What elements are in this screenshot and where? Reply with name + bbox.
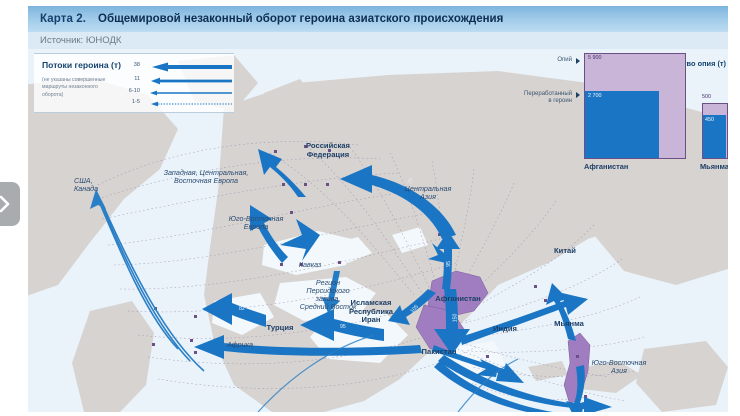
legend-value-38: 38 (118, 62, 140, 68)
legend-title: Потоки героина (т) (42, 60, 121, 70)
myanmar-heroin-value: 450 (705, 117, 714, 123)
afghanistan-bar-label: Афганистан (584, 162, 628, 171)
opium-row-label: Опий (524, 57, 572, 64)
legend-value-1-5: 1-5 (118, 99, 140, 105)
afghanistan-heroin-bar (585, 91, 659, 158)
legend-row-38: 38 (118, 62, 228, 72)
world-map: США,Канада Западная, Центральная,Восточн… (28, 49, 728, 412)
map-title: Общемировой незаконный оборот героина аз… (98, 13, 503, 25)
legend-value-6-10: 6-10 (118, 88, 140, 94)
heroin-row-label: Переработанныйв героин (494, 91, 572, 105)
map-number: Карта 2. (40, 13, 86, 25)
afghanistan-heroin-value: 2 700 (588, 93, 602, 99)
myanmar-opium-value: 500 (702, 94, 711, 100)
legend-row-11: 11 (118, 76, 228, 86)
myanmar-bars: 500 450 (702, 103, 728, 159)
opium-row-caret (576, 58, 580, 64)
afghanistan-opium-value: 5 900 (588, 55, 602, 61)
opium-production-panel: Производство опия (т) Опий Переработанны… (524, 51, 728, 177)
legend-row-6-10: 6-10 (118, 88, 228, 98)
chevron-right-icon (0, 195, 10, 213)
myanmar-bar-label: Мьянма (700, 162, 728, 171)
next-page-button[interactable] (0, 182, 20, 226)
source-bar: Источник: ЮНОДК (28, 32, 728, 49)
legend-value-11: 11 (118, 76, 140, 82)
map-title-bar: Карта 2. Общемировой незаконный оборот г… (28, 6, 728, 32)
afghanistan-bars: 5 900 2 700 (584, 53, 686, 159)
document-sheet: Карта 2. Общемировой незаконный оборот г… (22, 0, 740, 416)
heroin-row-caret (576, 92, 580, 98)
map-page: Карта 2. Общемировой незаконный оборот г… (0, 0, 740, 416)
legend-row-1-5: 1-5 (118, 99, 228, 109)
legend-note: (не указаны совершенные маршруты незакон… (42, 77, 120, 99)
legend-heroin-flows: Потоки героина (т) (не указаны совершенн… (34, 53, 234, 113)
source-label: Источник: ЮНОДК (40, 35, 121, 46)
